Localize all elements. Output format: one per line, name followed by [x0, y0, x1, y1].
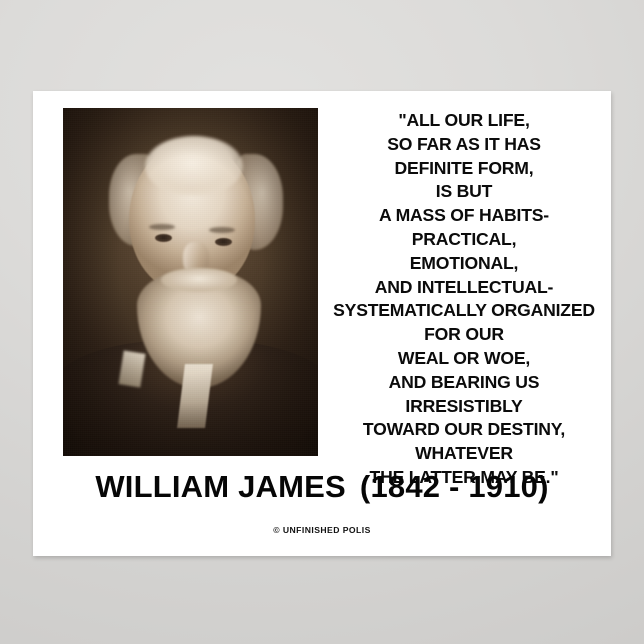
- quote-line: SO FAR AS IT HAS: [333, 133, 595, 157]
- quote-line: AND BEARING US: [333, 371, 595, 395]
- quote-line: A MASS OF HABITS-: [333, 204, 595, 228]
- photo-grain: [63, 108, 318, 456]
- quote-line: WEAL OR WOE,: [333, 347, 595, 371]
- quote-line: PRACTICAL,: [333, 228, 595, 252]
- quote-line: IRRESISTIBLY: [333, 395, 595, 419]
- quote-line: SYSTEMATICALLY ORGANIZED: [333, 299, 595, 323]
- quote-line: WHATEVER: [333, 442, 595, 466]
- poster-sheet: "ALL OUR LIFE, SO FAR AS IT HAS DEFINITE…: [33, 91, 611, 556]
- quote-line: EMOTIONAL,: [333, 252, 595, 276]
- subject-life-years: (1842 - 1910): [360, 469, 549, 504]
- quote-line: DEFINITE FORM,: [333, 157, 595, 181]
- william-james-portrait-photo: [63, 108, 318, 456]
- poster-title: WILLIAM JAMES(1842 - 1910): [33, 469, 611, 505]
- quote-line: IS BUT: [333, 180, 595, 204]
- quote-line: TOWARD OUR DESTINY,: [333, 418, 595, 442]
- quote-block: "ALL OUR LIFE, SO FAR AS IT HAS DEFINITE…: [333, 109, 595, 490]
- quote-line: "ALL OUR LIFE,: [333, 109, 595, 133]
- quote-line: FOR OUR: [333, 323, 595, 347]
- poster-canvas: "ALL OUR LIFE, SO FAR AS IT HAS DEFINITE…: [0, 0, 644, 644]
- credit-line: © UNFINISHED POLIS: [33, 525, 611, 535]
- subject-name: WILLIAM JAMES: [95, 469, 346, 504]
- quote-line: AND INTELLECTUAL-: [333, 276, 595, 300]
